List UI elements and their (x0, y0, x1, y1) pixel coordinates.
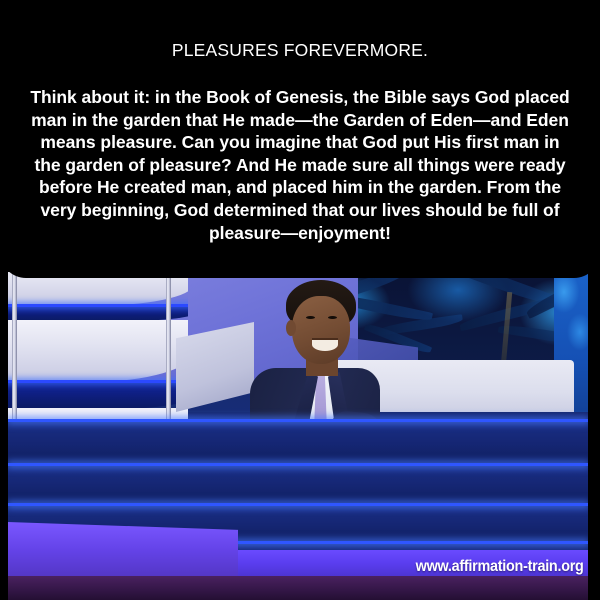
overlay-title: PLEASURES FOREVERMORE. (0, 40, 600, 61)
step-led-strip (8, 463, 588, 466)
stair-led-glow (8, 304, 188, 307)
stair-tread (8, 320, 188, 382)
smiling-mouth (312, 338, 338, 351)
purple-floor-band (8, 576, 588, 600)
stage-photograph (8, 272, 588, 600)
ear (286, 320, 296, 336)
website-watermark: www.affirmation-train.org (416, 558, 584, 576)
face (292, 296, 350, 364)
overlay-body-text: Think about it: in the Book of Genesis, … (30, 86, 570, 244)
step-led-strip (8, 503, 588, 506)
image-frame: PLEASURES FOREVERMORE. Think about it: i… (0, 0, 600, 600)
text-overlay-panel: PLEASURES FOREVERMORE. Think about it: i… (0, 0, 600, 278)
stage-step (8, 420, 588, 464)
stair-led-glow (8, 380, 188, 383)
step-led-strip (8, 419, 588, 422)
eye-left (306, 316, 315, 319)
stage-step (8, 464, 588, 504)
eye-right (328, 316, 337, 319)
violet-step-left (8, 522, 238, 578)
stair-riser (8, 380, 188, 410)
